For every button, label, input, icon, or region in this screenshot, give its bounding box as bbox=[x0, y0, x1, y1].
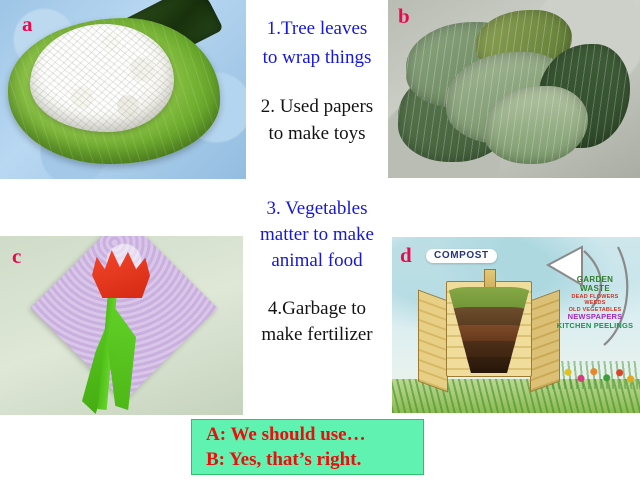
text-list-column: 1.Tree leaves to wrap things 2. Used pap… bbox=[246, 0, 388, 416]
list-item-4-line-2: make fertilizer bbox=[246, 322, 388, 347]
list-item-1-line-2: to wrap things bbox=[246, 45, 388, 70]
dialogue-box: A: We should use… B: Yes, that’s right. bbox=[191, 419, 424, 475]
list-item-4-line-1: 4.Garbage to bbox=[246, 296, 388, 321]
list-item-1-line-1: 1.Tree leaves bbox=[246, 16, 388, 41]
image-panel-a: a bbox=[0, 0, 246, 179]
panel-label-a: a bbox=[22, 14, 33, 35]
slide-canvas: a b c COMPOST bbox=[0, 0, 640, 480]
bin-side-left bbox=[418, 290, 448, 393]
waste-label-garden: GARDEN bbox=[552, 275, 638, 284]
waste-label-waste: WASTE bbox=[552, 284, 638, 293]
panel-label-c: c bbox=[12, 246, 21, 267]
leaf-vein-texture bbox=[484, 86, 588, 164]
panel-label-d: d bbox=[400, 245, 412, 266]
vegetable-leaf bbox=[484, 86, 588, 164]
list-item-3-line-2: matter to make bbox=[246, 222, 388, 247]
dialogue-line-b: B: Yes, that’s right. bbox=[206, 447, 423, 472]
rice-grain-texture bbox=[30, 24, 174, 132]
dialogue-line-a: A: We should use… bbox=[206, 422, 423, 447]
list-item-3-line-3: animal food bbox=[246, 248, 388, 273]
compost-title-label: COMPOST bbox=[426, 249, 497, 263]
list-item-2-line-2: to make toys bbox=[246, 121, 388, 146]
rice-ball bbox=[30, 24, 174, 132]
panel-label-b: b bbox=[398, 6, 410, 27]
image-panel-d: COMPOST GARDEN WASTE DEAD FLOWERS WEEDS bbox=[392, 237, 640, 413]
image-panel-b: b bbox=[388, 0, 640, 178]
gap-left bbox=[0, 179, 246, 236]
list-item-3-line-1: 3. Vegetables bbox=[246, 196, 388, 221]
gap-right bbox=[388, 178, 640, 237]
list-item-2-line-1: 2. Used papers bbox=[246, 94, 388, 119]
waste-label-kitchen-peelings: KITCHEN PEELINGS bbox=[552, 322, 638, 331]
waste-input-labels: GARDEN WASTE DEAD FLOWERS WEEDS OLD VEGE… bbox=[552, 275, 638, 331]
image-panel-c: c bbox=[0, 236, 243, 415]
